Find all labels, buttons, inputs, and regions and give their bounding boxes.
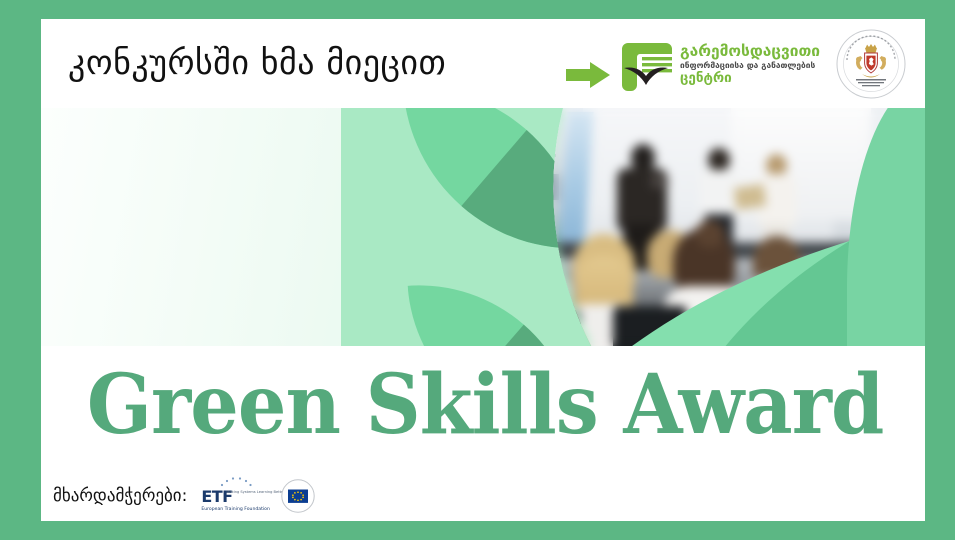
poster-card: კონკურსში ხმა მიეცით გარემოსდაცვითი ინფო… [41,19,925,521]
georgia-coat-of-arms-icon [836,29,906,99]
headline-text: კონკურსში ხმა მიეცით [68,35,588,91]
page-title: Green Skills Award [87,358,879,452]
eiec-logo-line-2: ინფორმაციისა და განათლების [680,60,820,71]
eiec-logo[interactable]: გარემოსდაცვითი ინფორმაციისა და განათლები… [620,33,830,95]
supporters-label: მხარდამჭერები: [53,486,187,506]
etf-logo[interactable]: ETF Making Systems Learning Better Europ… [201,476,267,516]
supporters-row: მხარდამჭერები: ETF Maki [53,474,315,518]
arrow-right-icon [566,62,610,88]
header-bar: კონკურსში ხმა მიეცით გარემოსდაცვითი ინფო… [41,19,925,108]
eiec-logo-line-3: ცენტრი [680,71,820,86]
leaf-decor-bottom [408,275,579,346]
open-book-leaf-logo-icon [620,37,674,91]
title-section: Green Skills Award მხარდამჭერები: [41,346,925,521]
etf-tagline: Making Systems Learning Better [226,490,284,495]
hero-banner [41,108,925,346]
eiec-logo-text: გარემოსდაცვითი ინფორმაციისა და განათლები… [680,43,820,86]
poster-root: კონკურსში ხმა მიეცით გარემოსდაცვითი ინფო… [0,0,955,540]
etf-subtitle: European Training Foundation [201,507,270,513]
eiec-logo-line-1: გარემოსდაცვითი [680,43,820,60]
european-union-flag-icon[interactable] [281,479,315,513]
